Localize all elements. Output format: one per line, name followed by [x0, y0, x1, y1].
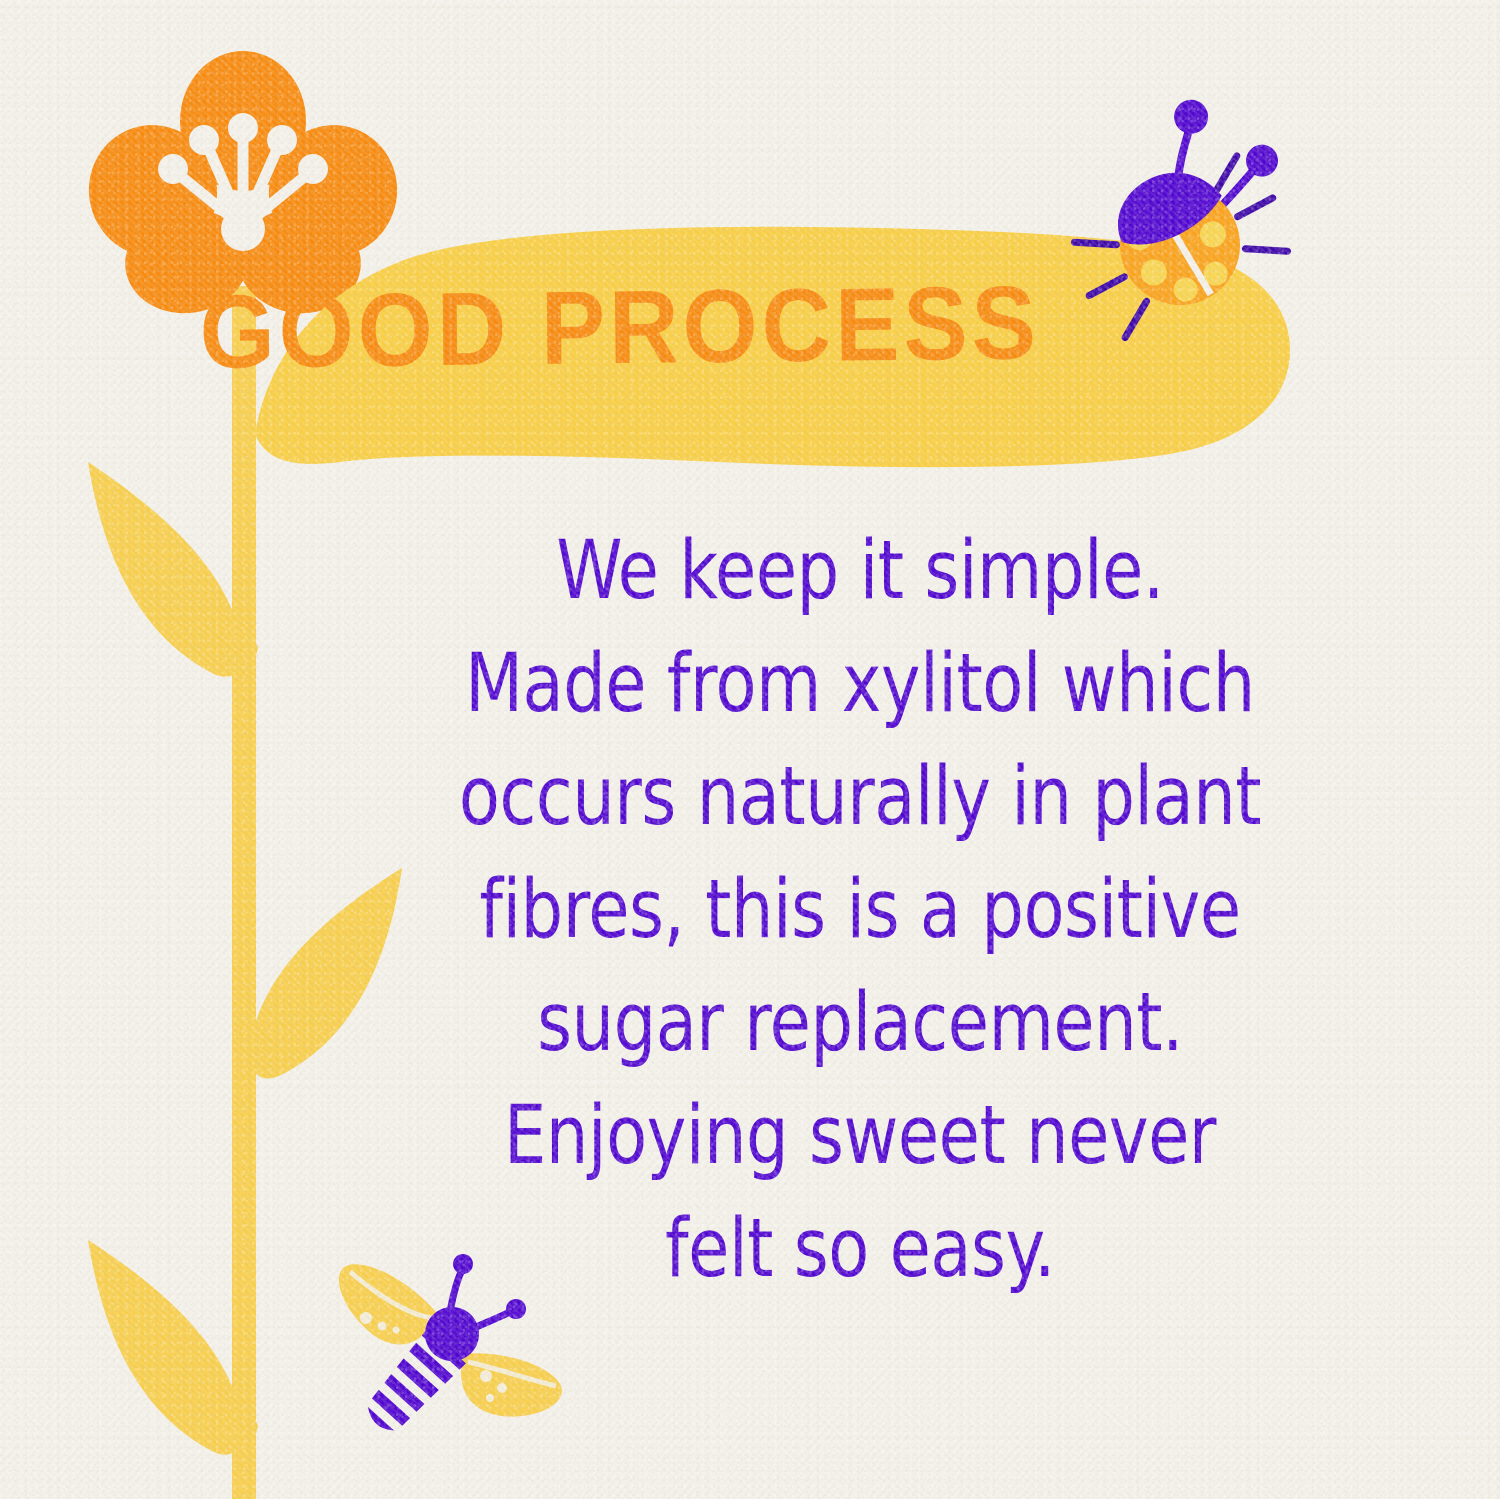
- body-line: fibres, this is a positive: [432, 854, 1288, 967]
- banner-heading-container: GOOD PROCESS: [0, 276, 1240, 380]
- body-copy: We keep it simple. Made from xylitol whi…: [395, 515, 1325, 1306]
- body-line: felt so easy.: [432, 1193, 1288, 1306]
- poster-canvas: GOOD PROCESS We keep it simple. Made fro…: [0, 0, 1500, 1499]
- body-line: sugar replacement.: [432, 967, 1288, 1080]
- text-layer: GOOD PROCESS We keep it simple. Made fro…: [0, 0, 1500, 1499]
- body-line: occurs naturally in plant: [432, 741, 1288, 854]
- body-line: Made from xylitol which: [432, 628, 1288, 741]
- page-title: GOOD PROCESS: [199, 271, 1040, 384]
- body-line: We keep it simple.: [432, 515, 1288, 628]
- body-line: Enjoying sweet never: [432, 1080, 1288, 1193]
